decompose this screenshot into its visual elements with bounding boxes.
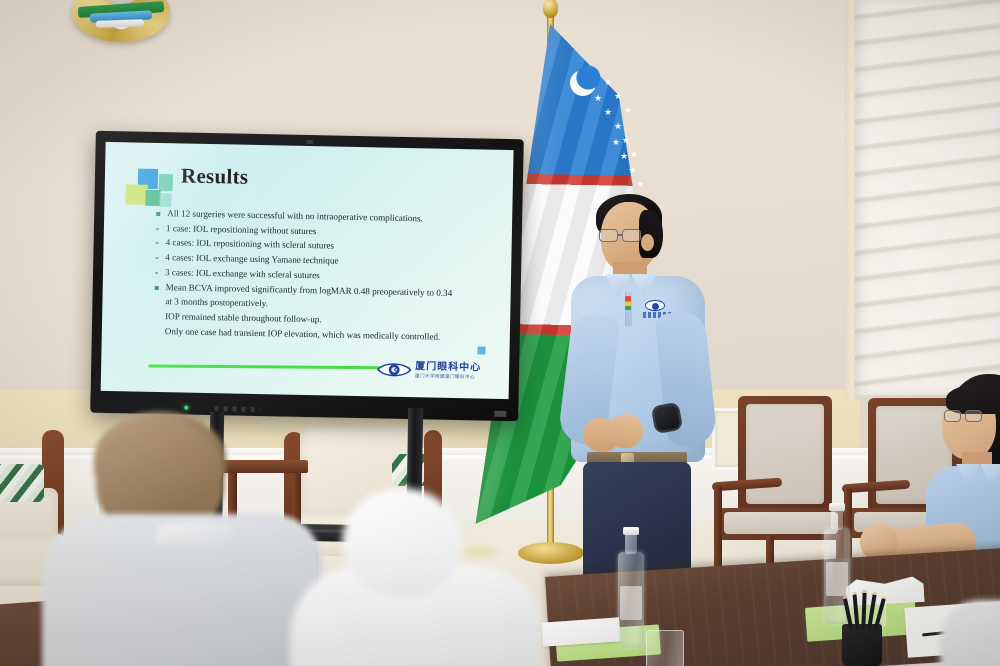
flag-star-icon: ★ — [614, 122, 622, 131]
slide-bullet-list: All 12 surgeries were successful with no… — [154, 207, 495, 346]
ir-sensor-icon — [306, 140, 313, 144]
bullet-marker — [156, 212, 160, 216]
deco-square-teal — [159, 174, 173, 191]
flag-star-icon: ★ — [630, 150, 638, 159]
bottle-neck — [625, 533, 637, 554]
bullet-text: 1 case: IOL repositioning without suture… — [166, 222, 317, 237]
flag-star-icon: ★ — [604, 108, 612, 117]
bullet-marker — [154, 300, 158, 304]
deco-square-green — [145, 190, 160, 206]
deco-square-lime — [125, 184, 147, 204]
eyeglasses-icon — [599, 229, 643, 243]
bullet-text: 4 cases: IOL repositioning with scleral … — [166, 237, 335, 253]
bottle-label — [620, 586, 642, 620]
lapel-pin — [625, 296, 631, 310]
bullet-marker — [155, 285, 159, 289]
eyeglasses-icon — [944, 410, 984, 423]
clinic-logo-text: 厦门眼科中心 厦门大学附属厦门眼科中心 — [415, 362, 481, 380]
pencil-cup[interactable] — [842, 624, 882, 666]
tv-brand-mark — [494, 411, 506, 417]
bullet-marker — [154, 330, 158, 334]
audience-member-grey-shirt — [56, 418, 326, 666]
flag-star-icon: ★ — [636, 180, 644, 189]
bullet-marker — [155, 272, 158, 274]
slide-screen[interactable]: Results All 12 surgeries were successful… — [101, 142, 514, 399]
flag-star-icon: ★ — [594, 94, 602, 103]
emblem-ribbon-white — [96, 19, 144, 28]
lens-right — [965, 410, 982, 422]
flag-star-icon: ★ — [614, 92, 622, 101]
slide-title: Results — [181, 163, 249, 189]
bullet-text: at 3 months postoperatively. — [165, 295, 268, 309]
bottle-cap — [623, 527, 639, 535]
bullet-marker — [156, 242, 159, 244]
lens-left — [944, 410, 961, 422]
eye-icon — [645, 300, 665, 311]
bullet-text: Only one case had transient IOP elevatio… — [165, 325, 441, 343]
bottle-cap — [829, 503, 845, 511]
bottle-label — [826, 562, 848, 596]
slide-decoration-squares — [125, 168, 174, 211]
bullet-marker — [156, 228, 159, 230]
water-bottle[interactable] — [618, 552, 644, 648]
drinking-glass[interactable] — [646, 630, 684, 666]
flag-star-icon: ★ — [622, 136, 630, 145]
lens-left — [599, 229, 618, 242]
audience-head — [342, 488, 462, 598]
bullet-marker — [155, 257, 158, 259]
flag-star-icon: ★ — [620, 152, 628, 161]
lens-right — [622, 229, 641, 242]
clinic-name-cn: 厦门眼科中心 — [415, 362, 481, 373]
clinic-subtitle-cn: 厦门大学附属厦门眼科中心 — [415, 374, 481, 380]
bottle-neck — [831, 509, 843, 530]
presentation-room-scene: ★ ★ ★ ★ ★ ★ ★ ★ ★ ★ ★ ★ — [0, 0, 1000, 666]
presenter-person — [565, 196, 725, 596]
window-blinds — [855, 0, 1000, 395]
bullet-text: 4 cases: IOL exchange using Yamane techn… — [165, 251, 338, 267]
flag-star-icon: ★ — [612, 138, 620, 147]
audience-collar — [156, 522, 234, 544]
decorative-pillow — [0, 464, 44, 502]
wrist-watch — [653, 404, 681, 432]
bullet-text: IOP remained stable throughout follow-up… — [165, 310, 322, 325]
flag-star-icon: ★ — [604, 78, 612, 87]
audience-member-white-shirt — [296, 488, 546, 666]
bullet-marker — [154, 315, 158, 319]
presentation-display[interactable]: Results All 12 surgeries were successful… — [90, 131, 524, 422]
chair-backrest — [746, 404, 824, 504]
flag-pole-finial — [543, 0, 558, 18]
flag-star-icon: ★ — [624, 106, 632, 115]
clinic-logo: 厦门眼科中心 厦门大学附属厦门眼科中心 — [377, 354, 494, 386]
deco-square-mint — [159, 193, 171, 207]
flag-star-icon: ★ — [628, 166, 636, 175]
bullet-text: 3 cases: IOL exchange with scleral sutur… — [165, 266, 320, 281]
slide-divider-rule — [148, 364, 410, 369]
eye-icon — [377, 359, 411, 380]
slide-animation-icon — [477, 346, 485, 354]
glasses-bridge — [618, 234, 623, 236]
polo-collar — [956, 464, 1000, 488]
chair-seat — [724, 512, 838, 534]
